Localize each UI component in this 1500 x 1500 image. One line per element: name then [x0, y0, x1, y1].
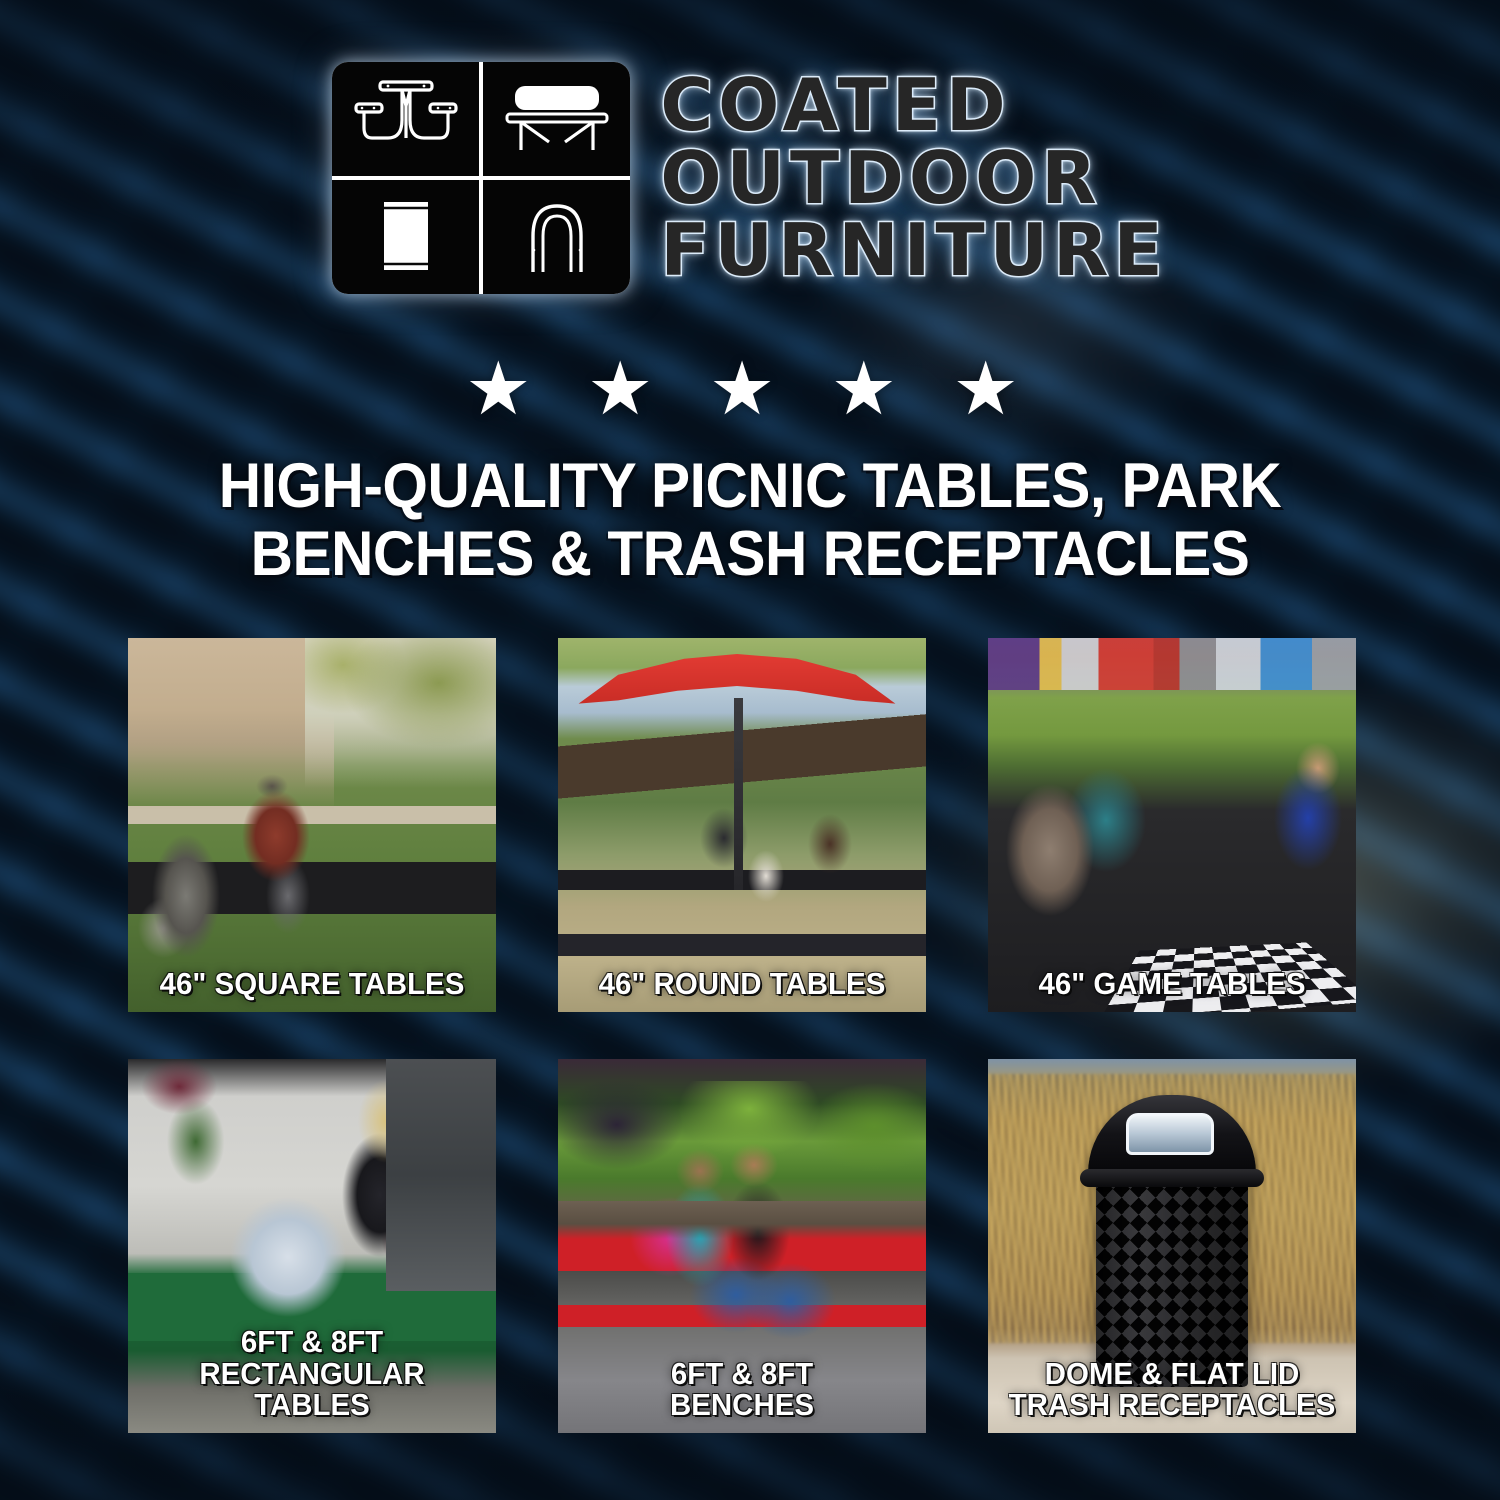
photo-game-tables: [988, 638, 1356, 1012]
brand-line-1: COATED: [660, 70, 1167, 141]
caption-line-1: 6FT & 8FT: [573, 1358, 911, 1390]
caption-line-1: 6FT & 8FT: [143, 1326, 481, 1358]
trash-can-rim: [1080, 1169, 1264, 1187]
promo-banner: COATED OUTDOOR FURNITURE ★ ★ ★ ★ ★ HIGH-…: [0, 0, 1500, 1500]
brand-header: COATED OUTDOOR FURNITURE: [0, 62, 1500, 294]
logo-tile-park-bench: [483, 62, 630, 176]
brand-line-2: OUTDOOR: [660, 143, 1167, 214]
headline-line-2: BENCHES & TRASH RECEPTACLES: [108, 520, 1391, 588]
product-tile-game-tables[interactable]: 46" GAME TABLES: [988, 638, 1356, 1012]
caption-rectangular-tables: 6FT & 8FT RECTANGULAR TABLES: [143, 1326, 481, 1421]
photo-round-tables: [558, 638, 926, 1012]
caption-game-tables: 46" GAME TABLES: [1003, 968, 1341, 1000]
brand-wordmark: COATED OUTDOOR FURNITURE: [660, 70, 1167, 286]
caption-line-1: DOME & FLAT LID: [1003, 1358, 1341, 1390]
photo-square-tables: [128, 638, 496, 1012]
product-tile-grid: 46" SQUARE TABLES 46" ROUND TABLES 46" G…: [128, 638, 1356, 1433]
trash-receptacle-icon: [350, 194, 462, 280]
brand-line-3: FURNITURE: [660, 215, 1167, 286]
caption-line-2: TRASH RECEPTACLES: [1003, 1389, 1341, 1421]
caption-line-1: 46" GAME TABLES: [1003, 968, 1341, 1000]
product-tile-round-tables[interactable]: 46" ROUND TABLES: [558, 638, 926, 1012]
caption-line-2: RECTANGULAR TABLES: [143, 1358, 481, 1421]
caption-benches: 6FT & 8FT BENCHES: [573, 1358, 911, 1421]
caption-line-2: BENCHES: [573, 1389, 911, 1421]
trash-dome-opening: [1126, 1113, 1214, 1155]
caption-trash-receptacles: DOME & FLAT LID TRASH RECEPTACLES: [1003, 1358, 1341, 1421]
star-rating: ★ ★ ★ ★ ★: [0, 352, 1500, 426]
logo-tile-picnic-table: [332, 62, 479, 176]
brand-logo-mark: [332, 62, 630, 294]
picnic-table-icon: [350, 76, 462, 162]
product-tile-square-tables[interactable]: 46" SQUARE TABLES: [128, 638, 496, 1012]
bike-rack-arch-icon: [501, 194, 613, 280]
product-tile-rectangular-tables[interactable]: 6FT & 8FT RECTANGULAR TABLES: [128, 1059, 496, 1433]
trash-dome-lid: [1088, 1095, 1256, 1179]
caption-line-1: 46" SQUARE TABLES: [143, 968, 481, 1000]
product-tile-benches[interactable]: 6FT & 8FT BENCHES: [558, 1059, 926, 1433]
caption-square-tables: 46" SQUARE TABLES: [143, 968, 481, 1000]
caption-round-tables: 46" ROUND TABLES: [573, 968, 911, 1000]
logo-tile-trash-receptacle: [332, 180, 479, 294]
headline-line-1: HIGH-QUALITY PICNIC TABLES, PARK: [108, 452, 1391, 520]
product-tile-trash-receptacles[interactable]: DOME & FLAT LID TRASH RECEPTACLES: [988, 1059, 1356, 1433]
page-headline: HIGH-QUALITY PICNIC TABLES, PARK BENCHES…: [108, 452, 1391, 588]
logo-tile-bike-rack-arch: [483, 180, 630, 294]
caption-line-1: 46" ROUND TABLES: [573, 968, 911, 1000]
park-bench-icon: [501, 76, 613, 162]
